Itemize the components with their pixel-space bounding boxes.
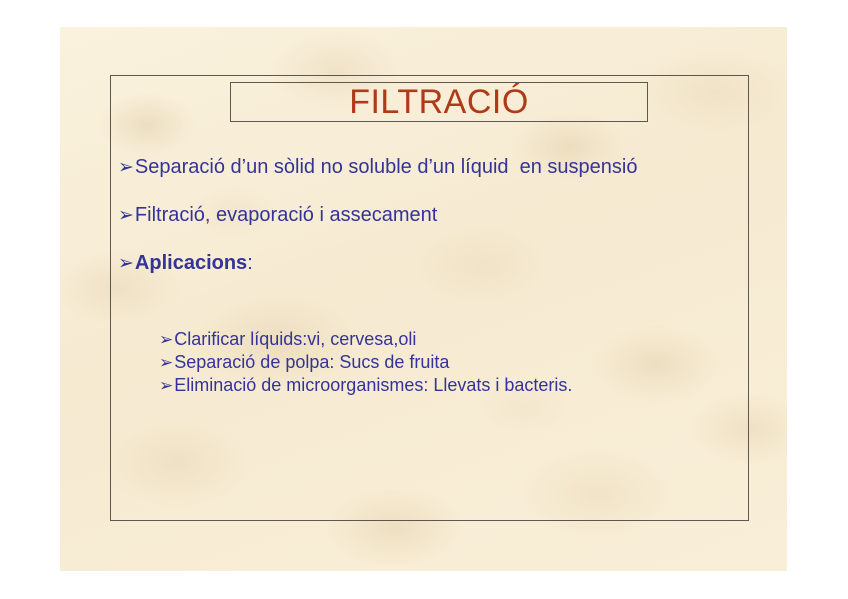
sub-bullet-item-2: ➢ Separació de polpa: Sucs de fruita	[159, 351, 719, 374]
sub-bullet-item-1-label: Clarificar líquids:vi, cervesa,oli	[174, 328, 416, 351]
slide-page: FILTRACIÓ ➢ Separació d’un sòlid no solu…	[0, 0, 848, 599]
bullet-item-3: ➢ Aplicacions :	[118, 252, 743, 274]
arrowhead-bullet-icon: ➢	[159, 331, 173, 348]
arrowhead-bullet-icon: ➢	[118, 254, 134, 273]
slide-title: FILTRACIÓ	[349, 85, 529, 119]
bullet-item-2-label: Filtració, evaporació i assecament	[135, 204, 437, 226]
sub-bullet-item-2-label: Separació de polpa: Sucs de fruita	[174, 351, 449, 374]
sub-bullet-item-1: ➢ Clarificar líquids:vi, cervesa,oli	[159, 328, 719, 351]
sub-bullet-item-3: ➢ Eliminació de microorganismes: Llevats…	[159, 374, 719, 397]
arrowhead-bullet-icon: ➢	[118, 158, 134, 177]
sub-bullet-list: ➢ Clarificar líquids:vi, cervesa,oli ➢ S…	[159, 328, 719, 397]
arrowhead-bullet-icon: ➢	[118, 206, 134, 225]
arrowhead-bullet-icon: ➢	[159, 354, 173, 371]
bullet-item-3-colon: :	[247, 252, 253, 274]
bullet-item-1-label: Separació d’un sòlid no soluble d’un líq…	[135, 156, 638, 178]
slide-content-frame: FILTRACIÓ ➢ Separació d’un sòlid no solu…	[110, 75, 749, 521]
presentation-slide: FILTRACIÓ ➢ Separació d’un sòlid no solu…	[60, 27, 787, 571]
bullet-item-3-label: Aplicacions	[135, 252, 247, 274]
arrowhead-bullet-icon: ➢	[159, 377, 173, 394]
main-bullet-list: ➢ Separació d’un sòlid no soluble d’un l…	[118, 156, 743, 300]
bullet-item-1: ➢ Separació d’un sòlid no soluble d’un l…	[118, 156, 743, 178]
slide-title-box: FILTRACIÓ	[230, 82, 648, 122]
sub-bullet-item-3-label: Eliminació de microorganismes: Llevats i…	[174, 374, 572, 397]
bullet-item-2: ➢ Filtració, evaporació i assecament	[118, 204, 743, 226]
